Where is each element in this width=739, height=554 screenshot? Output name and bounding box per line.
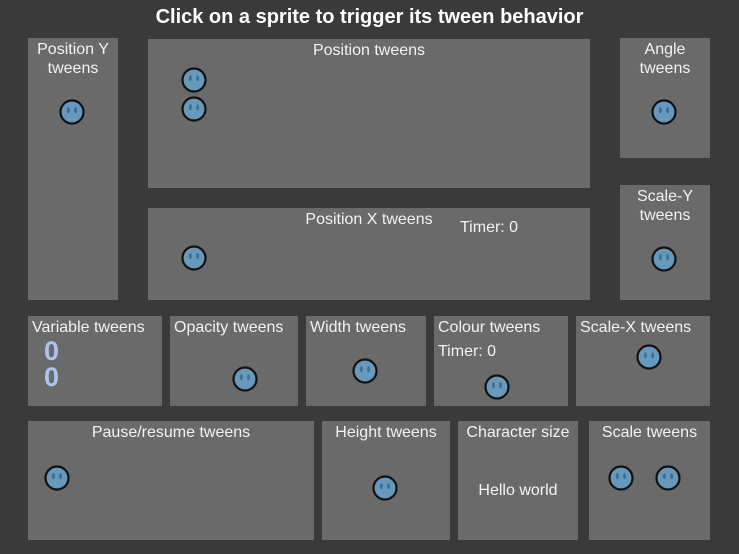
panel-variable-tweens: Variable tweens00 [28,316,162,406]
sprite-position-tweens-2[interactable] [181,96,207,122]
panel-label-scale-tweens: Scale tweens [589,423,710,442]
panel-opacity-tweens: Opacity tweens [170,316,298,406]
panel-position-y-tweens: Position Y tweens [28,38,118,300]
panel-height-tweens: Height tweens [322,421,450,540]
panel-pause-resume-tweens: Pause/resume tweens [28,421,314,540]
panel-label-position-y-tweens: Position Y tweens [28,40,118,78]
character-size-text: Hello world [458,481,578,500]
sprite-angle-tweens-1[interactable] [651,99,677,125]
panel-label-character-size: Character size [458,423,578,442]
panel-scale-x-tweens: Scale-X tweens [576,316,710,406]
panel-position-tweens: Position tweens [148,39,590,188]
panel-scale-y-tweens: Scale-Y tweens [620,185,710,300]
panel-label-colour-tweens: Colour tweens [434,318,540,337]
sprite-opacity-tweens-1[interactable] [232,366,258,392]
sprite-colour-tweens-1[interactable] [484,374,510,400]
timer-label-colour-tweens: Timer: 0 [438,342,496,361]
panel-label-pause-resume-tweens: Pause/resume tweens [28,423,314,442]
panel-label-variable-tweens: Variable tweens [28,318,145,337]
sprite-position-tweens-1[interactable] [181,67,207,93]
tween-demo-stage: Click on a sprite to trigger its tween b… [0,0,739,554]
sprite-scale-x-tweens-1[interactable] [636,344,662,370]
sprite-scale-y-tweens-1[interactable] [651,246,677,272]
panel-label-position-x-tweens: Position X tweens [148,210,590,229]
panel-character-size: Character sizeHello world [458,421,578,540]
variable-value-1: 0 [44,338,59,365]
panel-angle-tweens: Angle tweens [620,38,710,158]
sprite-height-tweens-1[interactable] [372,475,398,501]
variable-value-2: 0 [44,364,59,391]
panel-label-opacity-tweens: Opacity tweens [170,318,283,337]
sprite-position-y-tweens-1[interactable] [59,99,85,125]
panel-scale-tweens: Scale tweens [589,421,710,540]
page-title: Click on a sprite to trigger its tween b… [0,6,739,29]
panel-colour-tweens: Colour tweensTimer: 0 [434,316,568,406]
panel-label-scale-y-tweens: Scale-Y tweens [620,187,710,225]
sprite-scale-tweens-1[interactable] [608,465,634,491]
panel-position-x-tweens: Position X tweensTimer: 0 [148,208,590,300]
panel-label-scale-x-tweens: Scale-X tweens [576,318,691,337]
timer-label-position-x-tweens: Timer: 0 [460,218,518,237]
panel-label-height-tweens: Height tweens [322,423,450,442]
sprite-position-x-tweens-1[interactable] [181,245,207,271]
panel-label-width-tweens: Width tweens [306,318,406,337]
sprite-pause-resume-tweens-1[interactable] [44,465,70,491]
panel-width-tweens: Width tweens [306,316,426,406]
panel-label-position-tweens: Position tweens [148,41,590,60]
sprite-width-tweens-1[interactable] [352,358,378,384]
panel-label-angle-tweens: Angle tweens [620,40,710,78]
sprite-scale-tweens-2[interactable] [655,465,681,491]
